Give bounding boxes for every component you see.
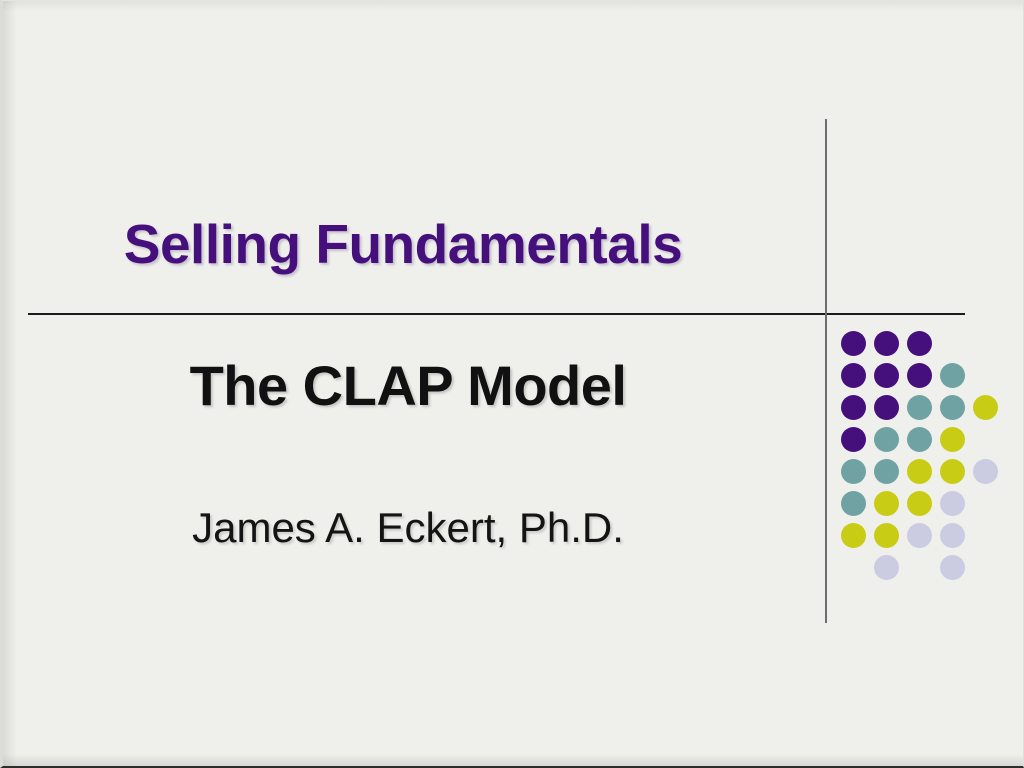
dot-yellow <box>874 523 899 548</box>
dot-purple <box>841 427 866 452</box>
dot-teal <box>841 491 866 516</box>
dot-teal <box>874 459 899 484</box>
dot-lavender <box>940 491 965 516</box>
dot-lavender <box>940 523 965 548</box>
dot-yellow <box>973 395 998 420</box>
dot-yellow <box>940 459 965 484</box>
dot-lavender <box>874 555 899 580</box>
dot-purple <box>907 331 932 356</box>
dot-purple <box>841 331 866 356</box>
dot-purple <box>874 363 899 388</box>
decorative-dot-matrix <box>841 331 1011 591</box>
dot-yellow <box>907 491 932 516</box>
dot-yellow <box>907 459 932 484</box>
dot-teal <box>907 427 932 452</box>
vertical-divider-rule <box>825 119 827 623</box>
dot-purple <box>907 363 932 388</box>
slide-title: Selling Fundamentals <box>3 212 803 276</box>
dot-purple <box>841 395 866 420</box>
presentation-slide: Selling Fundamentals The CLAP Model Jame… <box>0 0 1024 768</box>
dot-purple <box>841 363 866 388</box>
dot-lavender <box>973 459 998 484</box>
dot-teal <box>940 395 965 420</box>
slide-subtitle: The CLAP Model <box>3 353 813 418</box>
dot-teal <box>841 459 866 484</box>
dot-yellow <box>940 427 965 452</box>
dot-teal <box>940 363 965 388</box>
dot-yellow <box>874 491 899 516</box>
dot-purple <box>874 331 899 356</box>
dot-yellow <box>841 523 866 548</box>
dot-lavender <box>940 555 965 580</box>
dot-teal <box>874 427 899 452</box>
dot-purple <box>874 395 899 420</box>
dot-lavender <box>907 523 932 548</box>
dot-teal <box>907 395 932 420</box>
slide-author: James A. Eckert, Ph.D. <box>3 504 813 552</box>
